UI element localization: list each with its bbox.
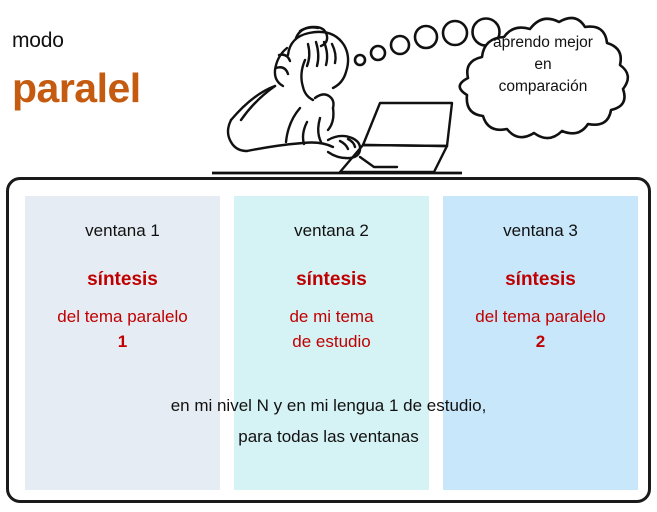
window-2-desc-line-1: de mi tema [234, 305, 429, 330]
window-3-synthesis: síntesis [443, 270, 638, 289]
window-1-synthesis: síntesis [25, 270, 220, 289]
header-title-block: modo paralel [12, 30, 222, 109]
windows-columns: ventana 1 síntesis del tema paralelo 1 v… [25, 196, 638, 490]
window-2-desc-line-2: de estudio [234, 330, 429, 355]
window-column-2-content: ventana 2 síntesis de mi tema de estudio [234, 222, 429, 354]
window-2-description: de mi tema de estudio [234, 305, 429, 354]
windows-panel: ventana 1 síntesis del tema paralelo 1 v… [6, 177, 651, 503]
window-3-label: ventana 3 [443, 222, 638, 239]
window-column-3[interactable]: ventana 3 síntesis del tema paralelo 2 [443, 196, 638, 490]
window-1-label: ventana 1 [25, 222, 220, 239]
mode-value: paralel [12, 68, 222, 109]
window-1-desc-line-2: 1 [25, 330, 220, 355]
window-column-3-content: ventana 3 síntesis del tema paralelo 2 [443, 222, 638, 354]
bubble-line-1: aprendo mejor [463, 32, 623, 54]
window-1-description: del tema paralelo 1 [25, 305, 220, 354]
thought-bubble-text: aprendo mejor en comparación [463, 32, 623, 98]
window-3-desc-line-1: del tema paralelo [443, 305, 638, 330]
infographic-page: modo paralel [0, 0, 657, 512]
window-column-1-content: ventana 1 síntesis del tema paralelo 1 [25, 222, 220, 354]
window-3-desc-line-2: 2 [443, 330, 638, 355]
window-1-desc-line-1: del tema paralelo [25, 305, 220, 330]
bubble-line-3: comparación [463, 76, 623, 98]
bubble-line-2: en [463, 54, 623, 76]
window-2-synthesis: síntesis [234, 270, 429, 289]
window-column-2[interactable]: ventana 2 síntesis de mi tema de estudio [234, 196, 429, 490]
window-3-description: del tema paralelo 2 [443, 305, 638, 354]
mode-label: modo [12, 30, 222, 51]
window-2-label: ventana 2 [234, 222, 429, 239]
window-column-1[interactable]: ventana 1 síntesis del tema paralelo 1 [25, 196, 220, 490]
